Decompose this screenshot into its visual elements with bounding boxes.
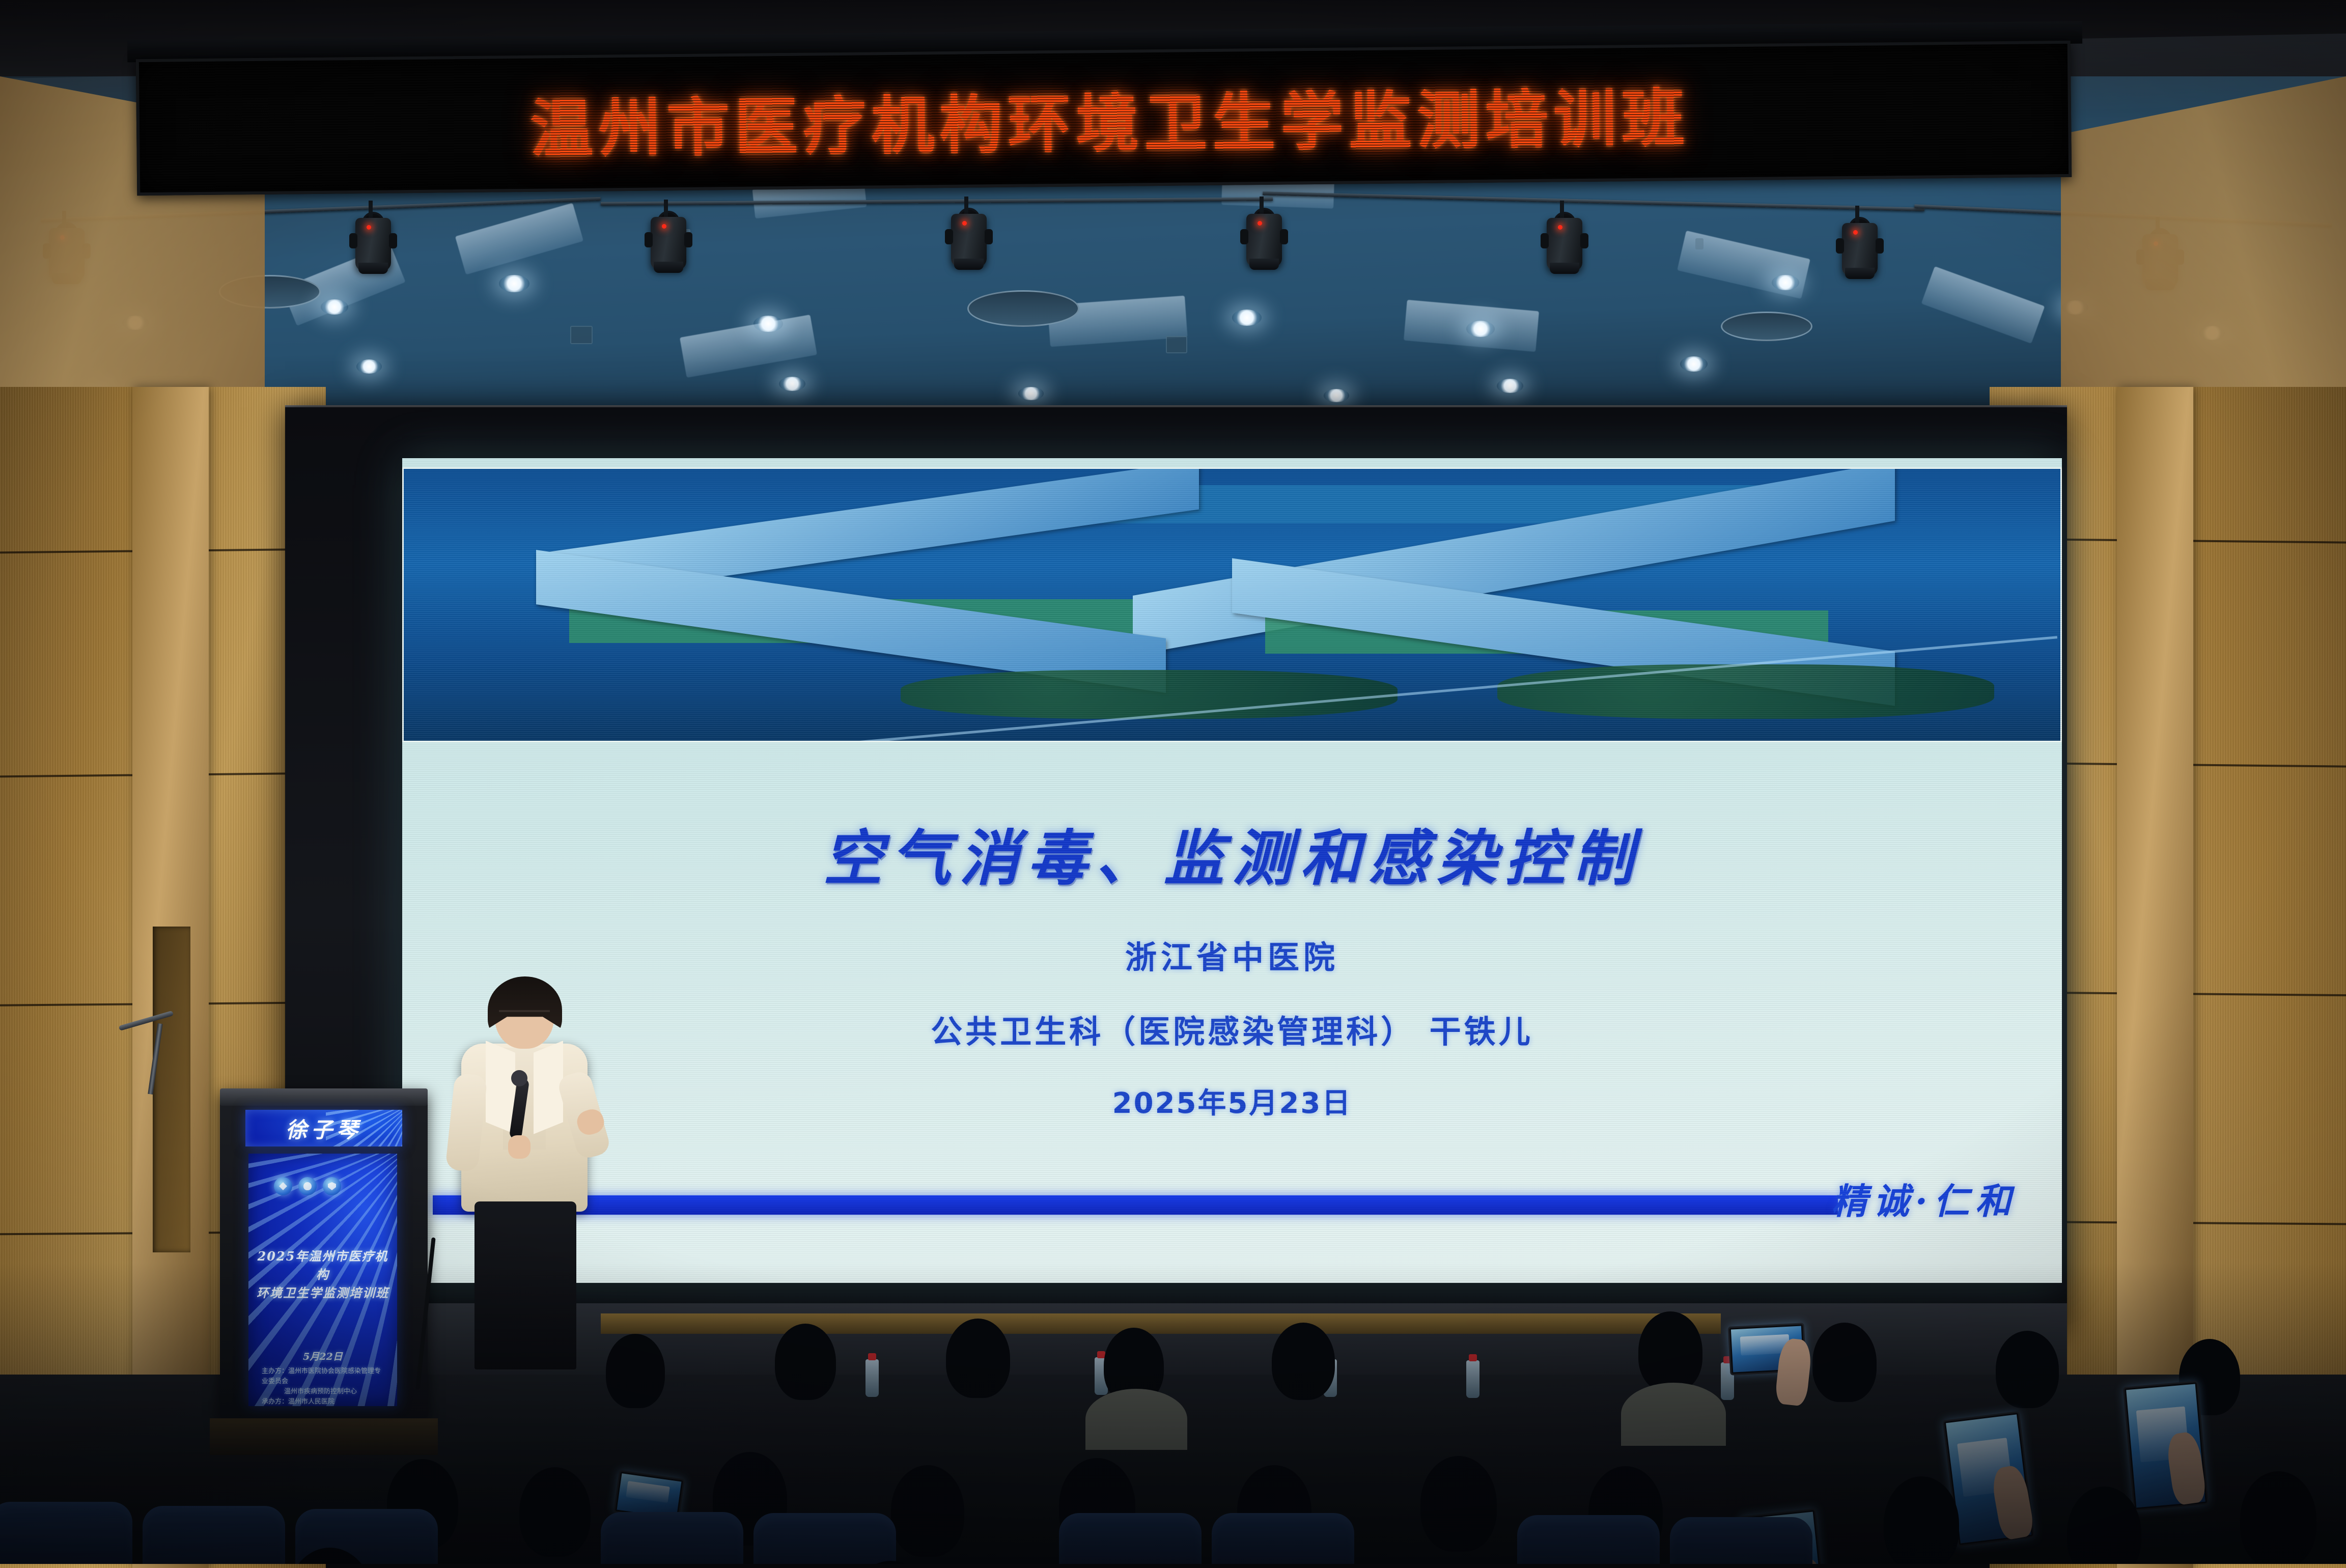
- stage-spotlight: [1242, 210, 1286, 275]
- ceiling-panel: [455, 203, 583, 274]
- ceiling-downlight: [1497, 379, 1523, 393]
- audience-shoulders: [1621, 1383, 1726, 1446]
- audience-head: [2067, 1487, 2141, 1564]
- water-bottle: [1466, 1360, 1479, 1398]
- audience-head: [775, 1324, 836, 1400]
- audience-seat[interactable]: [143, 1506, 285, 1564]
- slide-title: 空气消毒、监测和感染控制: [402, 809, 2062, 897]
- audience-head: [519, 1467, 591, 1557]
- led-banner-text: 温州市医疗机构环境卫生学监测培训班: [529, 67, 1690, 170]
- shield-check-icon: [323, 1177, 341, 1195]
- speaker-lapel-left: [486, 1041, 515, 1134]
- ceiling-downlight: [1232, 310, 1262, 326]
- podium-nameplate-text: 徐子琴: [286, 1113, 362, 1144]
- lighting-truss: [601, 197, 1273, 205]
- shield-heart-icon: [298, 1177, 317, 1195]
- audience-seat[interactable]: [1517, 1515, 1660, 1564]
- projection-slide: 空气消毒、监测和感染控制 浙江省中医院 公共卫生科（医院感染管理科） 干铁儿 2…: [402, 458, 2062, 1283]
- auditorium-scene: 温州市医疗机构环境卫生学监测培训班: [0, 0, 2346, 1564]
- slide-affiliation: 浙江省中医院: [402, 932, 2062, 977]
- medical-diamond-icon: [274, 1177, 292, 1195]
- audience-head: [1638, 1311, 1702, 1392]
- ceiling-downlight: [1018, 387, 1044, 400]
- glasses-icon: [499, 1010, 550, 1020]
- audience-head: [891, 1465, 964, 1557]
- audience-seat[interactable]: [1059, 1513, 1202, 1564]
- slide-photo-strip: [402, 467, 2062, 742]
- stage-spotlight: [1543, 214, 1586, 279]
- ceiling-grille: [570, 326, 593, 344]
- lighting-truss: [1263, 191, 1924, 211]
- ceiling-panel: [1921, 266, 2045, 344]
- audience-head: [1812, 1323, 1877, 1402]
- podium-top-surface: [220, 1088, 428, 1106]
- microphone-capsule: [511, 1070, 527, 1086]
- slide-logo-text: 精诚·仁和: [1832, 1173, 2017, 1224]
- audience-seat[interactable]: [753, 1513, 896, 1564]
- ceiling-downlight: [753, 316, 783, 332]
- slide-accent-bar: [433, 1195, 1838, 1215]
- ceiling-downlight: [1324, 389, 1349, 402]
- ceiling-downlight: [1680, 356, 1708, 372]
- ceiling-air-vent: [967, 290, 1079, 327]
- audience-head: [1996, 1331, 2059, 1408]
- photo-aerial-campus-3: [402, 467, 2062, 742]
- audience-seat[interactable]: [601, 1512, 743, 1564]
- audience-seat[interactable]: [1212, 1513, 1354, 1564]
- stage-spotlight: [647, 213, 690, 278]
- audience-area: [0, 1263, 2346, 1564]
- podium-display-icon-row: [274, 1177, 341, 1195]
- audience-seat[interactable]: [0, 1502, 132, 1564]
- water-bottle: [865, 1359, 879, 1397]
- audience-head: [606, 1334, 665, 1408]
- led-banner: 温州市医疗机构环境卫生学监测培训班: [136, 41, 2072, 195]
- audience-head: [1420, 1456, 1497, 1552]
- audience-seat[interactable]: [1670, 1517, 1812, 1564]
- ceiling-air-vent: [1721, 312, 1812, 341]
- audience-head: [1884, 1476, 1959, 1564]
- sprinkler-head: [1695, 238, 1703, 249]
- audience-head: [2240, 1471, 2316, 1564]
- seat-row-ledge: [601, 1313, 1721, 1334]
- podium-nameplate: 徐子琴: [245, 1110, 402, 1146]
- audience-head: [946, 1319, 1010, 1398]
- audience-shoulders: [1085, 1389, 1187, 1450]
- ceiling-downlight: [321, 299, 348, 315]
- ceiling-soffit-right: [2061, 76, 2346, 438]
- wall-door-recess: [153, 927, 190, 1252]
- stage-spotlight: [947, 210, 991, 275]
- stage-spotlight: [1838, 219, 1882, 284]
- stage-spotlight: [351, 214, 395, 279]
- ceiling-grille: [1166, 336, 1187, 353]
- ceiling-downlight: [499, 275, 529, 292]
- ceiling-downlight: [1772, 275, 1799, 290]
- audience-head: [1272, 1323, 1335, 1400]
- slide-department-presenter: 公共卫生科（医院感染管理科） 干铁儿: [402, 1006, 2062, 1052]
- speaker-hand-left: [508, 1135, 530, 1159]
- slide-date: 2025年5月23日: [402, 1080, 2062, 1122]
- ceiling-downlight: [779, 377, 805, 391]
- ceiling-downlight: [1466, 321, 1495, 337]
- ceiling-panel: [680, 315, 817, 378]
- ceiling-downlight: [356, 359, 382, 374]
